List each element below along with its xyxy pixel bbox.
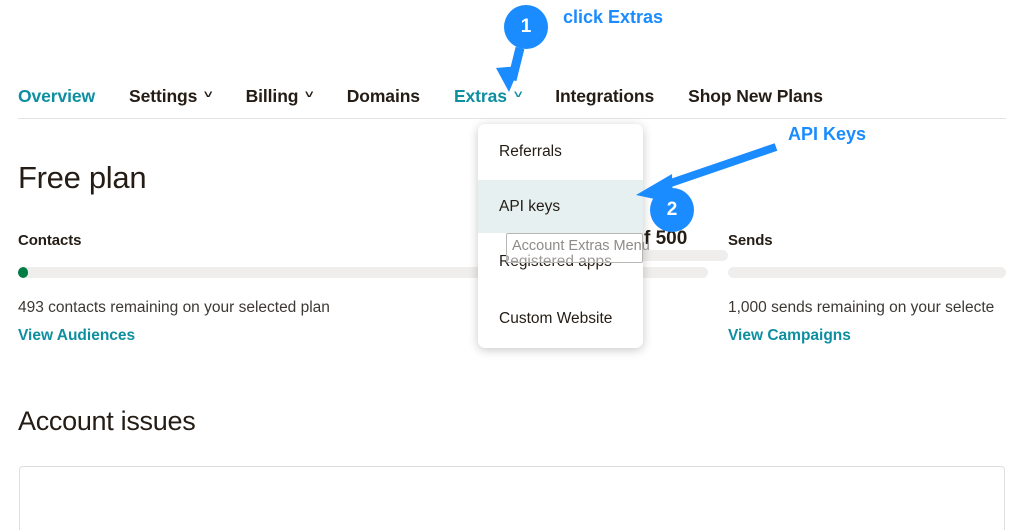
dropdown-item-custom-website[interactable]: Custom Website	[478, 290, 643, 348]
nav-item-domains-label: Domains	[347, 86, 420, 107]
nav-item-shop-new-plans[interactable]: Shop New Plans	[688, 86, 823, 107]
stat-sends-label: Sends	[728, 232, 1024, 249]
nav-item-integrations[interactable]: Integrations	[555, 86, 654, 107]
annotation-badge-2-number: 2	[667, 199, 678, 221]
account-extras-menu-tooltip-text: Account Extras Menu	[512, 238, 650, 254]
chevron-down-icon: ˅	[514, 90, 523, 101]
dropdown-item-referrals-label: Referrals	[499, 143, 562, 161]
nav-item-domains[interactable]: Domains	[347, 86, 420, 107]
nav-item-extras[interactable]: Extras ˅	[454, 86, 521, 107]
annotation-label-1: click Extras	[563, 7, 663, 28]
nav-item-billing[interactable]: Billing ˅	[246, 86, 313, 107]
account-issues-heading: Account issues	[18, 406, 195, 437]
annotation-label-2: API Keys	[788, 124, 866, 145]
view-campaigns-link[interactable]: View Campaigns	[728, 327, 1024, 345]
stat-sends: Sends 1,000 sends remaining on your sele…	[728, 232, 1024, 345]
dropdown-item-custom-website-label: Custom Website	[499, 310, 612, 328]
nav-item-settings[interactable]: Settings ˅	[129, 86, 212, 107]
annotation-badge-1: 1	[504, 5, 548, 49]
main-navigation: Overview Settings ˅ Billing ˅ Domains Ex…	[0, 78, 1024, 120]
chevron-down-icon: ˅	[305, 90, 314, 101]
annotation-badge-1-number: 1	[521, 16, 532, 38]
nav-item-overview[interactable]: Overview	[18, 86, 95, 107]
dropdown-item-api-keys[interactable]: API keys	[478, 180, 643, 233]
contacts-progress-fill	[18, 267, 28, 278]
nav-item-billing-label: Billing	[246, 86, 299, 107]
account-issues-card	[19, 466, 1005, 530]
nav-item-extras-label: Extras	[454, 86, 507, 107]
page-title: Free plan	[18, 160, 146, 196]
annotation-badge-2: 2	[650, 188, 694, 232]
dropdown-item-api-keys-label: API keys	[499, 198, 560, 216]
sends-progress-bar	[728, 267, 1006, 278]
nav-item-integrations-label: Integrations	[555, 86, 654, 107]
nav-divider	[18, 118, 1006, 119]
chevron-down-icon: ˅	[204, 90, 213, 101]
dropdown-item-referrals[interactable]: Referrals	[478, 124, 643, 180]
nav-item-overview-label: Overview	[18, 86, 95, 107]
nav-items-container: Overview Settings ˅ Billing ˅ Domains Ex…	[18, 78, 857, 114]
stat-sends-description: 1,000 sends remaining on your selecte	[728, 299, 1024, 317]
nav-item-settings-label: Settings	[129, 86, 197, 107]
nav-item-shop-new-plans-label: Shop New Plans	[688, 86, 823, 107]
